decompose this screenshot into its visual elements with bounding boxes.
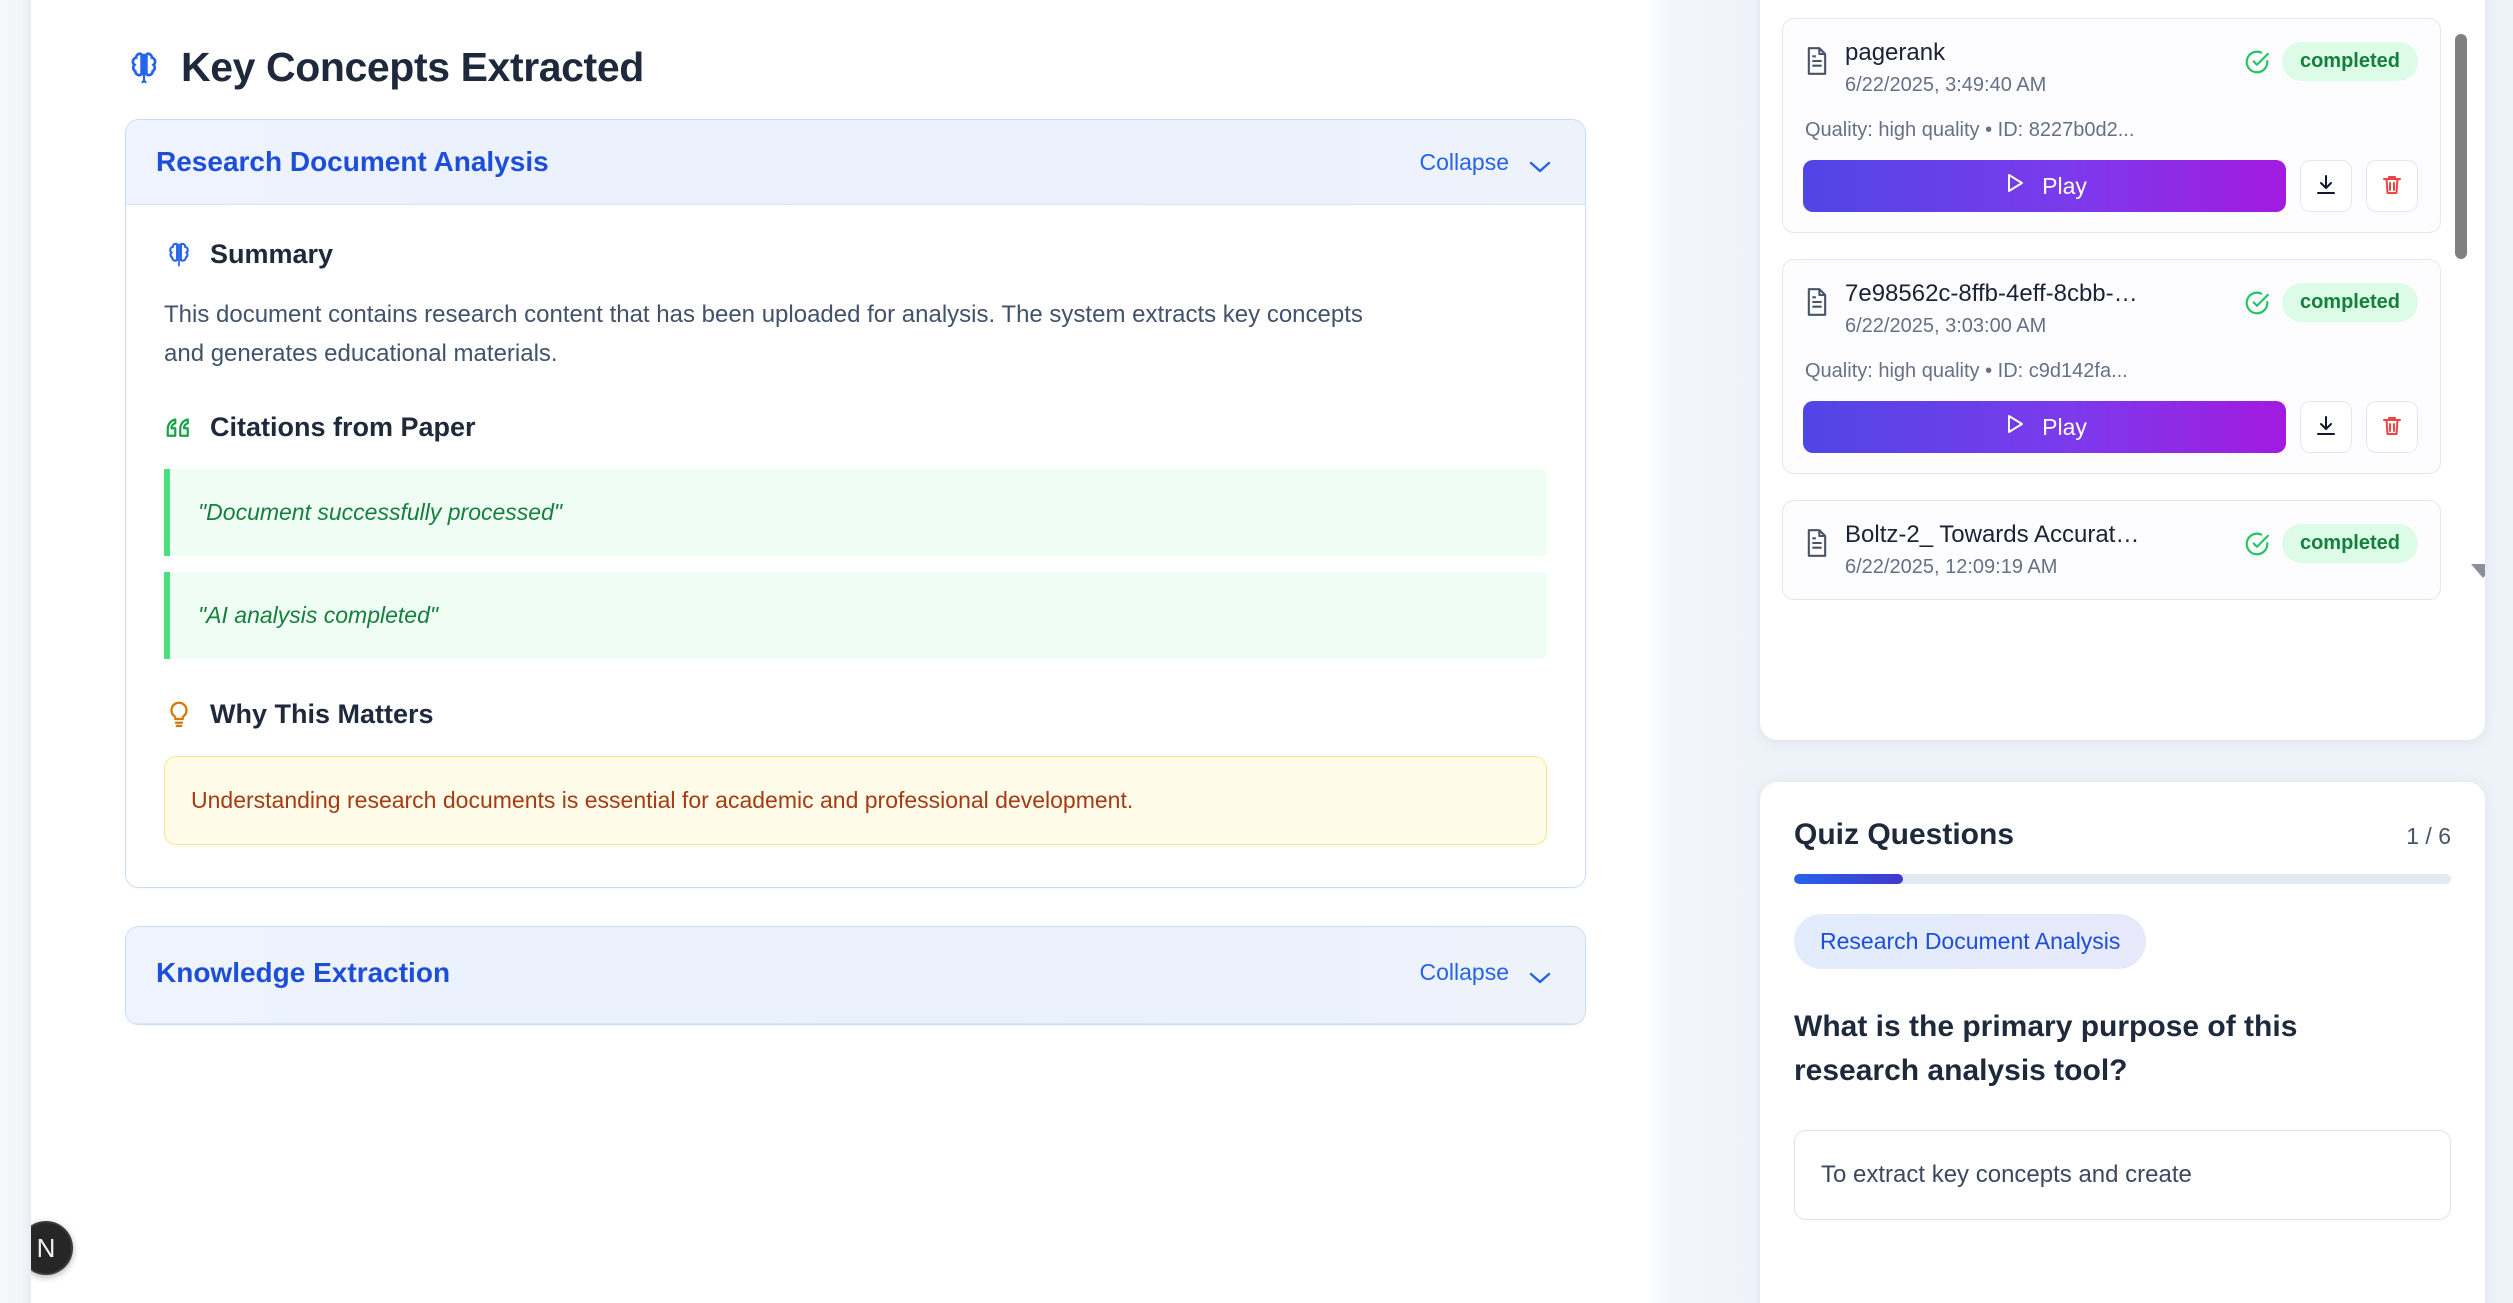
- brain-icon: [125, 49, 163, 87]
- audio-list-panel: pagerank 6/22/2025, 3:49:40 AM completed: [1760, 0, 2485, 740]
- audio-name: Boltz-2_ Towards Accurat…: [1845, 521, 2185, 549]
- assistant-fab-button[interactable]: N: [31, 1221, 73, 1275]
- play-button[interactable]: Play: [1803, 160, 2286, 212]
- audio-name: pagerank: [1845, 39, 2185, 67]
- page-title: Key Concepts Extracted: [181, 44, 644, 91]
- quiz-panel: Quiz Questions 1 / 6 Research Document A…: [1760, 782, 2485, 1303]
- trash-icon: [2380, 414, 2404, 441]
- audio-card-header: 7e98562c-8ffb-4eff-8cbb-… 6/22/2025, 3:0…: [1803, 280, 2418, 338]
- quiz-topic-chip: Research Document Analysis: [1794, 914, 2146, 969]
- download-button[interactable]: [2300, 160, 2352, 212]
- why-matters-heading-row: Why This Matters: [164, 699, 1547, 730]
- section-card-knowledge-extraction: Knowledge Extraction Collapse: [125, 926, 1586, 1025]
- why-matters-heading: Why This Matters: [210, 699, 434, 730]
- audio-list-scroll-area[interactable]: pagerank 6/22/2025, 3:49:40 AM completed: [1782, 0, 2463, 722]
- collapse-label: Collapse: [1420, 149, 1510, 176]
- citation-text: "Document successfully processed": [198, 499, 1547, 526]
- summary-text: This document contains research content …: [164, 296, 1394, 374]
- citations-heading-row: Citations from Paper: [164, 412, 1547, 443]
- audio-details: Quality: high quality • ID: 8227b0d2...: [1805, 119, 2418, 142]
- audio-card-header: pagerank 6/22/2025, 3:49:40 AM completed: [1803, 39, 2418, 97]
- download-button[interactable]: [2300, 401, 2352, 453]
- delete-button[interactable]: [2366, 160, 2418, 212]
- section-header[interactable]: Research Document Analysis Collapse: [126, 120, 1585, 205]
- check-circle-icon: [2244, 49, 2270, 75]
- status-badge: completed: [2282, 283, 2418, 322]
- collapse-button[interactable]: Collapse: [1420, 149, 1554, 176]
- section-body: Summary This document contains research …: [126, 205, 1585, 887]
- audio-status-group: completed: [2244, 280, 2418, 322]
- document-icon: [1803, 45, 1831, 77]
- play-button[interactable]: Play: [1803, 401, 2286, 453]
- audio-name: 7e98562c-8ffb-4eff-8cbb-…: [1845, 280, 2185, 308]
- why-matters-text: Understanding research documents is esse…: [191, 787, 1520, 814]
- audio-card-meta: Boltz-2_ Towards Accurat… 6/22/2025, 12:…: [1845, 521, 2230, 579]
- audio-status-group: completed: [2244, 521, 2418, 563]
- scroll-down-arrow-icon[interactable]: [2471, 564, 2485, 578]
- download-icon: [2314, 173, 2338, 200]
- audio-status-group: completed: [2244, 39, 2418, 81]
- audio-card-header: Boltz-2_ Towards Accurat… 6/22/2025, 12:…: [1803, 521, 2418, 579]
- citation-item: "AI analysis completed": [164, 572, 1547, 659]
- audio-actions: Play: [1803, 160, 2418, 212]
- chevron-down-icon: [1527, 965, 1553, 981]
- quiz-question: What is the primary purpose of this rese…: [1794, 1005, 2414, 1092]
- why-matters-callout: Understanding research documents is esse…: [164, 756, 1547, 845]
- quiz-answer-option[interactable]: To extract key concepts and create: [1794, 1130, 2451, 1220]
- play-icon: [2002, 412, 2026, 442]
- fab-label: N: [37, 1233, 56, 1264]
- app-root: Key Concepts Extracted Research Document…: [0, 0, 2513, 1303]
- check-circle-icon: [2244, 531, 2270, 557]
- lightbulb-icon: [164, 699, 194, 729]
- audio-date: 6/22/2025, 12:09:19 AM: [1845, 556, 2230, 579]
- audio-list-scrollbar[interactable]: [2455, 0, 2467, 722]
- document-icon: [1803, 286, 1831, 318]
- collapse-label: Collapse: [1420, 959, 1510, 986]
- section-title: Research Document Analysis: [156, 146, 549, 178]
- brain-icon: [164, 240, 194, 270]
- column-gutter: [1648, 0, 1756, 1303]
- summary-heading-row: Summary: [164, 239, 1547, 270]
- section-header[interactable]: Knowledge Extraction Collapse: [126, 927, 1585, 1024]
- audio-details: Quality: high quality • ID: c9d142fa...: [1805, 360, 2418, 383]
- quiz-header: Quiz Questions 1 / 6: [1794, 818, 2451, 852]
- collapse-button[interactable]: Collapse: [1420, 959, 1554, 986]
- page-title-row: Key Concepts Extracted: [125, 44, 1586, 91]
- left-rail-strip: [0, 0, 31, 1303]
- status-badge: completed: [2282, 42, 2418, 81]
- chevron-down-icon: [1527, 154, 1553, 170]
- document-icon: [1803, 527, 1831, 559]
- download-icon: [2314, 414, 2338, 441]
- citations-heading: Citations from Paper: [210, 412, 476, 443]
- audio-actions: Play: [1803, 401, 2418, 453]
- quiz-progress-bar: [1794, 874, 2451, 884]
- trash-icon: [2380, 173, 2404, 200]
- quiz-title: Quiz Questions: [1794, 818, 2014, 852]
- quiz-counter: 1 / 6: [2406, 823, 2451, 850]
- check-circle-icon: [2244, 290, 2270, 316]
- right-sidebar: pagerank 6/22/2025, 3:49:40 AM completed: [1756, 0, 2513, 1303]
- audio-date: 6/22/2025, 3:49:40 AM: [1845, 74, 2230, 97]
- audio-card-meta: pagerank 6/22/2025, 3:49:40 AM: [1845, 39, 2230, 97]
- main-content-column: Key Concepts Extracted Research Document…: [31, 0, 1648, 1303]
- audio-card[interactable]: pagerank 6/22/2025, 3:49:40 AM completed: [1782, 18, 2441, 233]
- summary-heading: Summary: [210, 239, 333, 270]
- audio-card[interactable]: 7e98562c-8ffb-4eff-8cbb-… 6/22/2025, 3:0…: [1782, 259, 2441, 474]
- audio-card-meta: 7e98562c-8ffb-4eff-8cbb-… 6/22/2025, 3:0…: [1845, 280, 2230, 338]
- section-card-research-document-analysis: Research Document Analysis Collapse: [125, 119, 1586, 888]
- play-icon: [2002, 171, 2026, 201]
- audio-date: 6/22/2025, 3:03:00 AM: [1845, 315, 2230, 338]
- quiz-progress-fill: [1794, 874, 1903, 884]
- citation-item: "Document successfully processed": [164, 469, 1547, 556]
- play-label: Play: [2042, 173, 2087, 200]
- scrollbar-thumb[interactable]: [2455, 34, 2467, 259]
- audio-card[interactable]: Boltz-2_ Towards Accurat… 6/22/2025, 12:…: [1782, 500, 2441, 600]
- section-title: Knowledge Extraction: [156, 957, 450, 989]
- quote-icon: [164, 412, 194, 442]
- delete-button[interactable]: [2366, 401, 2418, 453]
- play-label: Play: [2042, 414, 2087, 441]
- status-badge: completed: [2282, 524, 2418, 563]
- citation-text: "AI analysis completed": [198, 602, 1547, 629]
